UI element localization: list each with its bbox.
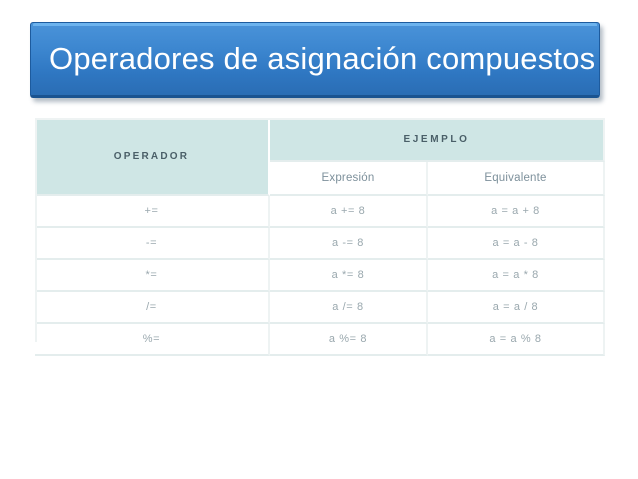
column-header-equivalente: Equivalente [428,162,605,196]
cell-expresion: a -= 8 [270,228,428,260]
cell-expresion: a %= 8 [270,324,428,356]
cell-equivalente: a = a * 8 [428,260,605,292]
cell-equivalente: a = a - 8 [428,228,605,260]
column-header-ejemplo: EJEMPLO [270,118,605,162]
cell-expresion: a += 8 [270,196,428,228]
table-header-row-primary: OPERADOR EJEMPLO [35,118,605,162]
slide-title-banner: Operadores de asignación compuestos [30,22,600,98]
table-row: -= a -= 8 a = a - 8 [35,228,605,260]
cell-operador: *= [35,260,270,292]
cell-operador: += [35,196,270,228]
cell-operador: -= [35,228,270,260]
page-title: Operadores de asignación compuestos [49,42,589,76]
cell-operador: %= [35,324,270,356]
table-row: *= a *= 8 a = a * 8 [35,260,605,292]
table-row: += a += 8 a = a + 8 [35,196,605,228]
cell-expresion: a /= 8 [270,292,428,324]
table-body: += a += 8 a = a + 8 -= a -= 8 a = a - 8 … [35,196,605,356]
table-row: /= a /= 8 a = a / 8 [35,292,605,324]
cell-equivalente: a = a % 8 [428,324,605,356]
table-row: %= a %= 8 a = a % 8 [35,324,605,356]
column-header-expresion: Expresión [270,162,428,196]
cell-expresion: a *= 8 [270,260,428,292]
cell-equivalente: a = a / 8 [428,292,605,324]
table-header: OPERADOR EJEMPLO Expresión Equivalente [35,118,605,196]
cell-operador: /= [35,292,270,324]
cell-equivalente: a = a + 8 [428,196,605,228]
compound-assignment-operators-table: OPERADOR EJEMPLO Expresión Equivalente +… [35,118,605,356]
column-header-operador: OPERADOR [35,118,270,196]
